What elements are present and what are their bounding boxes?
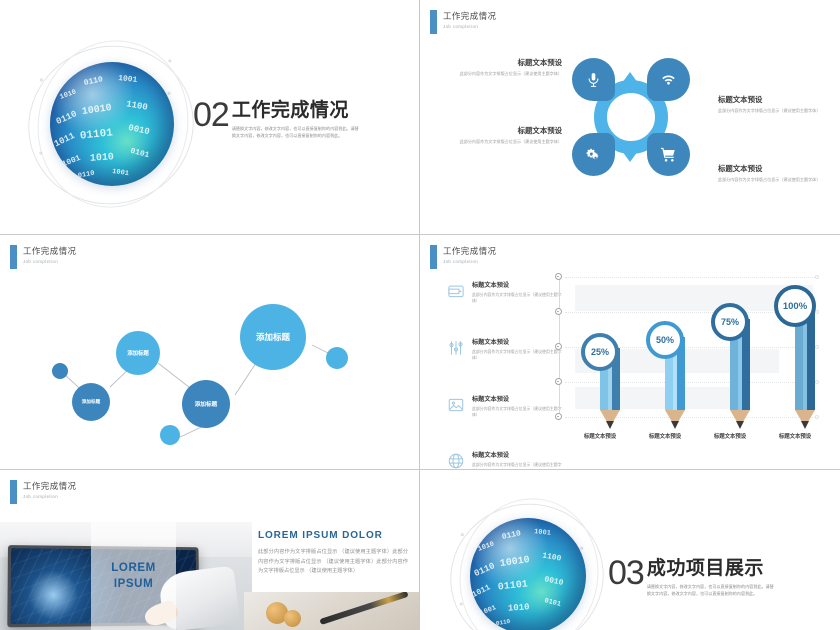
cycle-caption-2-body: 此部分内容作为文字排版占位显示（建议使用主题字体） — [457, 139, 562, 145]
cycle-caption-2-title: 标题文本预设 — [457, 126, 562, 136]
pencil-tip-3 — [736, 421, 744, 429]
photo-pen — [319, 592, 408, 625]
sliders-icon — [446, 338, 465, 357]
cover-title-block: 03 成功项目展示 请替换文字内容，修改文字内容，也可以直接复制你的内容到此。请… — [608, 558, 775, 597]
chart-tick-5 — [555, 273, 562, 280]
cycle-lobe-gears[interactable] — [572, 133, 615, 176]
cycle-caption-2: 标题文本预设 此部分内容作为文字排版占位显示（建议使用主题字体） — [457, 126, 562, 145]
pencil-tip-4 — [801, 421, 809, 429]
header-accent-bar — [430, 10, 437, 34]
photo-body: 此部分内容作为文字排版占位显示 （建议使用主题字体）此部分内容作为文字排版占位显… — [258, 548, 408, 577]
legend-item-wallet[interactable]: 标题文本预设 此部分内容作为文字排版占位显示（建议使用主题字体） — [446, 281, 564, 304]
wallet-icon — [446, 281, 465, 300]
cycle-caption-4: 标题文本预设 此部分内容作为文字排版占位显示（建议使用主题字体） — [718, 164, 823, 183]
pencil-tip-1 — [606, 421, 614, 429]
pencil-label-4: 标题文本预设 — [768, 432, 822, 440]
network-dot-2 — [160, 425, 180, 445]
chart-gridend-3 — [815, 345, 819, 349]
pencil-badge-3: 75% — [711, 303, 749, 341]
header-accent-bar — [430, 245, 437, 269]
pencil-value-2: 50% — [656, 335, 674, 345]
coin-2 — [284, 610, 301, 627]
section-subtitle: 请替换文字内容，修改文字内容，也可以直接复制你的内容到此。请替换文字内容，修改文… — [232, 125, 360, 139]
network-node-1[interactable]: 添加标题 — [240, 304, 306, 370]
photo-overlay-text: LOREM IPSUM — [91, 560, 177, 592]
globe-graphic: 1010 0110 1001 0110 10010 1100 1011 0110… — [450, 498, 610, 630]
binary-digits: 1010 0110 1001 0110 10010 1100 1011 0110… — [470, 518, 586, 630]
legend-item-globe[interactable]: 标题文本预设 此部分内容作为文字排版占位显示（建议使用主题字体） — [446, 451, 564, 470]
slide-header: 工作完成情况 Job completion — [10, 480, 76, 504]
header-title-en: Job completion — [443, 24, 496, 29]
pencil-chart-plot: 25% 标题文本预设 50% 标题文本预设 — [557, 271, 819, 451]
cart-icon — [660, 146, 677, 163]
slide-cycle[interactable]: 工作完成情况 Job completion — [420, 0, 840, 235]
photo-coins-bg — [244, 592, 420, 630]
binary-globe: 1010 0110 1001 0110 10010 1100 1011 0110… — [50, 62, 174, 186]
pencil-value-3: 75% — [721, 317, 739, 327]
binary-globe: 1010 0110 1001 0110 10010 1100 1011 0110… — [470, 518, 586, 630]
cycle-caption-4-body: 此部分内容作为文字排版占位显示（建议使用主题字体） — [718, 177, 823, 183]
pencil-badge-1: 25% — [581, 333, 619, 371]
cycle-caption-1-body: 此部分内容作为文字排版占位显示（建议使用主题字体） — [457, 71, 562, 77]
legend-4-title: 标题文本预设 — [472, 451, 564, 460]
cycle-diagram — [572, 58, 690, 176]
legend-4-body: 此部分内容作为文字排版占位显示（建议使用主题字体） — [472, 462, 564, 470]
chart-gridend-1 — [815, 415, 819, 419]
slide-photo-text[interactable]: 工作完成情况 Job completion LOREM IPSUM — [0, 470, 420, 630]
photo-text-panel: LOREM IPSUM DOLOR 此部分内容作为文字排版占位显示 （建议使用主… — [258, 530, 408, 577]
cycle-caption-1-title: 标题文本预设 — [457, 58, 562, 68]
network-node-4[interactable]: 添加标题 — [72, 383, 110, 421]
network-node-1-label: 添加标题 — [256, 331, 290, 343]
globe-graphic: 1010 0110 1001 0110 10010 1100 1011 0110… — [28, 40, 200, 212]
header-title-cn: 工作完成情况 — [23, 481, 76, 492]
photo-overlay-line1: LOREM — [91, 560, 177, 576]
chart-tick-4 — [555, 308, 562, 315]
pencil-value-4: 100% — [783, 301, 807, 312]
slide-grid: 1010 0110 1001 0110 10010 1100 1011 0110… — [0, 0, 840, 630]
network-node-2[interactable]: 添加标题 — [116, 331, 160, 375]
header-title-en: Job completion — [23, 494, 76, 499]
photo-overlay-line2: IPSUM — [91, 576, 177, 592]
pencil-value-1: 25% — [591, 347, 609, 357]
section-title: 工作完成情况 — [232, 100, 360, 122]
header-title-cn: 工作完成情况 — [443, 11, 496, 22]
chart-gridend-2 — [815, 380, 819, 384]
cycle-lobe-microphone[interactable] — [572, 58, 615, 101]
slide-pencil-chart[interactable]: 工作完成情况 Job completion 标题文本预设 此部分内容作为文字排版… — [420, 235, 840, 470]
photo-monitor: LOREM IPSUM — [0, 522, 252, 630]
cycle-center-hole — [612, 98, 650, 136]
photo-coins — [244, 592, 420, 630]
network-node-2-label: 添加标题 — [127, 349, 149, 357]
network-connector-lines — [0, 235, 420, 470]
cycle-lobe-cart[interactable] — [647, 133, 690, 176]
wifi-icon — [660, 71, 677, 88]
header-title-en: Job completion — [443, 259, 496, 264]
cycle-caption-1: 标题文本预设 此部分内容作为文字排版占位显示（建议使用主题字体） — [457, 58, 562, 77]
slide-cover-02[interactable]: 1010 0110 1001 0110 10010 1100 1011 0110… — [0, 0, 420, 235]
binary-digits: 1010 0110 1001 0110 10010 1100 1011 0110… — [50, 62, 174, 186]
slide-network[interactable]: 工作完成情况 Job completion 添加标题 添加标题 添加标题 添加标… — [0, 235, 420, 470]
legend-1-title: 标题文本预设 — [472, 281, 564, 290]
microphone-icon — [585, 71, 602, 88]
chart-gridend-5 — [815, 275, 819, 279]
cycle-arrow-head-bottom — [622, 151, 638, 162]
section-title: 成功项目展示 — [647, 558, 775, 580]
globe-icon — [446, 451, 465, 470]
cycle-caption-3-title: 标题文本预设 — [718, 95, 823, 105]
network-dot-3 — [326, 347, 348, 369]
cycle-caption-4-title: 标题文本预设 — [718, 164, 823, 174]
cycle-arrow-head-top — [622, 72, 638, 83]
pencil-badge-4: 100% — [774, 285, 816, 327]
pencil-tip-2 — [671, 421, 679, 429]
header-accent-bar — [10, 480, 17, 504]
chart-tick-3 — [555, 343, 562, 350]
cycle-caption-3-body: 此部分内容作为文字排版占位显示（建议使用主题字体） — [718, 108, 823, 114]
legend-item-image[interactable]: 标题文本预设 此部分内容作为文字排版占位显示（建议使用主题字体） — [446, 395, 564, 418]
legend-item-sliders[interactable]: 标题文本预设 此部分内容作为文字排版占位显示（建议使用主题字体） — [446, 338, 564, 361]
chart-tick-1 — [555, 413, 562, 420]
legend-3-body: 此部分内容作为文字排版占位显示（建议使用主题字体） — [472, 406, 564, 418]
slide-header: 工作完成情况 Job completion — [430, 245, 496, 269]
pencil-label-3: 标题文本预设 — [703, 432, 757, 440]
section-number: 02 — [193, 100, 229, 130]
legend-2-title: 标题文本预设 — [472, 338, 564, 347]
network-node-3[interactable]: 添加标题 — [182, 380, 230, 428]
legend-2-body: 此部分内容作为文字排版占位显示（建议使用主题字体） — [472, 349, 564, 361]
legend-3-title: 标题文本预设 — [472, 395, 564, 404]
pencil-label-2: 标题文本预设 — [638, 432, 692, 440]
slide-header: 工作完成情况 Job completion — [430, 10, 496, 34]
slide-cover-03[interactable]: 1010 0110 1001 0110 10010 1100 1011 0110… — [420, 470, 840, 630]
image-icon — [446, 395, 465, 414]
chart-gridline-5 — [565, 277, 819, 278]
network-node-3-label: 添加标题 — [195, 400, 217, 408]
network-dot-1 — [52, 363, 68, 379]
legend-1-body: 此部分内容作为文字排版占位显示（建议使用主题字体） — [472, 292, 564, 304]
chart-tick-2 — [555, 378, 562, 385]
cycle-caption-3: 标题文本预设 此部分内容作为文字排版占位显示（建议使用主题字体） — [718, 95, 823, 114]
cover-title-block: 02 工作完成情况 请替换文字内容，修改文字内容，也可以直接复制你的内容到此。请… — [193, 100, 360, 139]
gears-icon — [585, 146, 602, 163]
cycle-lobe-wifi[interactable] — [647, 58, 690, 101]
section-number: 03 — [608, 558, 644, 588]
pencil-badge-2: 50% — [646, 321, 684, 359]
header-title-cn: 工作完成情况 — [443, 246, 496, 257]
pencil-label-1: 标题文本预设 — [573, 432, 627, 440]
section-subtitle: 请替换文字内容，修改文字内容，也可以直接复制你的内容到此。请替换文字内容，修改文… — [647, 583, 775, 597]
network-node-4-label: 添加标题 — [82, 399, 100, 405]
photo-heading: LOREM IPSUM DOLOR — [258, 530, 408, 541]
